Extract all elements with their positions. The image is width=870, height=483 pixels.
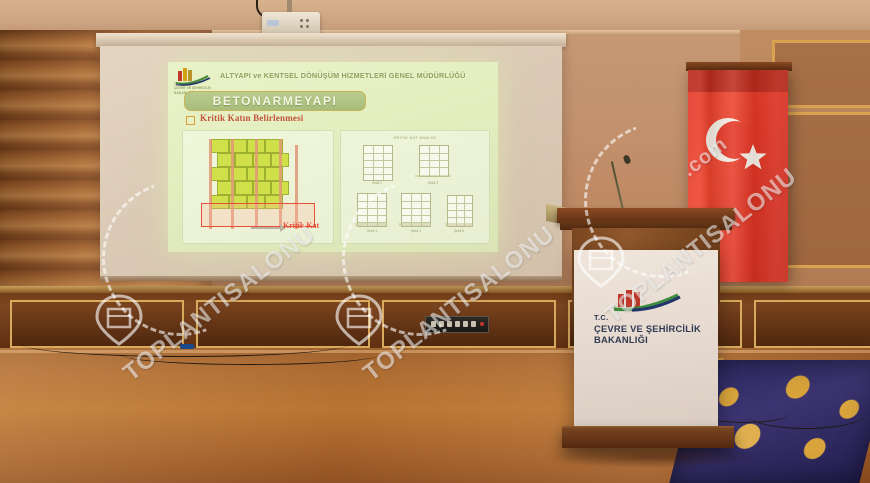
frame-diagram: [357, 193, 387, 227]
ministry-logo-icon: [612, 288, 684, 312]
cable-connector: [180, 344, 194, 349]
screen-bottom-bar: [100, 276, 562, 281]
ministry-logo-icon: T.C. ÇEVRE VE ŞEHİRCİLİK BAKANLIĞI: [174, 67, 214, 89]
frame-diagram: [419, 145, 449, 177]
ceiling: [0, 0, 870, 34]
screen-housing: [96, 33, 566, 47]
conference-hall-scene: T.C. ÇEVRE VE ŞEHİRCİLİK BAKANLIĞI ALTYA…: [0, 0, 870, 483]
podium-plinth: [562, 428, 734, 448]
frame-figure-title: KRİTİK KAT ANALİZİ: [341, 135, 489, 140]
slide-banner-text: BETONARMEYAPI: [213, 94, 338, 108]
frame-diagram: [401, 193, 431, 227]
podium-organization-text: T.C. ÇEVRE VE ŞEHİRCİLİK BAKANLIĞI: [594, 313, 706, 346]
frame-caption: Şekil 3: [355, 229, 389, 233]
critical-floor-arrow-icon: [251, 227, 281, 229]
slide-banner: BETONARMEYAPI: [184, 91, 366, 111]
podium-line1: T.C.: [594, 313, 706, 323]
podium-line3: BAKANLIĞI: [594, 334, 706, 346]
bullet-square-icon: [186, 116, 195, 125]
frame-analysis-figure: KRİTİK KAT ANALİZİ Şekil 1 Şekil 2 Şekil…: [340, 130, 490, 244]
frame-caption: Şekil 1: [359, 181, 395, 185]
floor-cable: [120, 344, 380, 365]
podium-shadow: [548, 446, 758, 468]
power-indicator-icon: [480, 322, 484, 326]
av-connection-panel[interactable]: [425, 316, 489, 333]
wall-panel: [754, 300, 870, 348]
frame-caption: Şekil 2: [415, 181, 451, 185]
podium-line2: ÇEVRE VE ŞEHİRCİLİK: [594, 323, 706, 335]
wainscot-gold-rail: [0, 286, 870, 293]
frame-caption: Şekil 5: [443, 229, 475, 233]
slide-logo-line2: ÇEVRE VE ŞEHİRCİLİK: [174, 86, 211, 90]
building-model-figure: Kritik Kat: [182, 130, 334, 244]
frame-diagram: [363, 145, 393, 181]
slide-bullet-text: Kritik Katın Belirlenmesi: [200, 113, 304, 123]
frame-caption: Şekil 4: [399, 229, 433, 233]
projected-slide: T.C. ÇEVRE VE ŞEHİRCİLİK BAKANLIĞI ALTYA…: [168, 62, 498, 252]
slide-header-title: ALTYAPI ve KENTSEL DÖNÜŞÜM HİZMETLERİ GE…: [220, 72, 492, 80]
critical-floor-label: Kritik Kat: [283, 221, 319, 230]
